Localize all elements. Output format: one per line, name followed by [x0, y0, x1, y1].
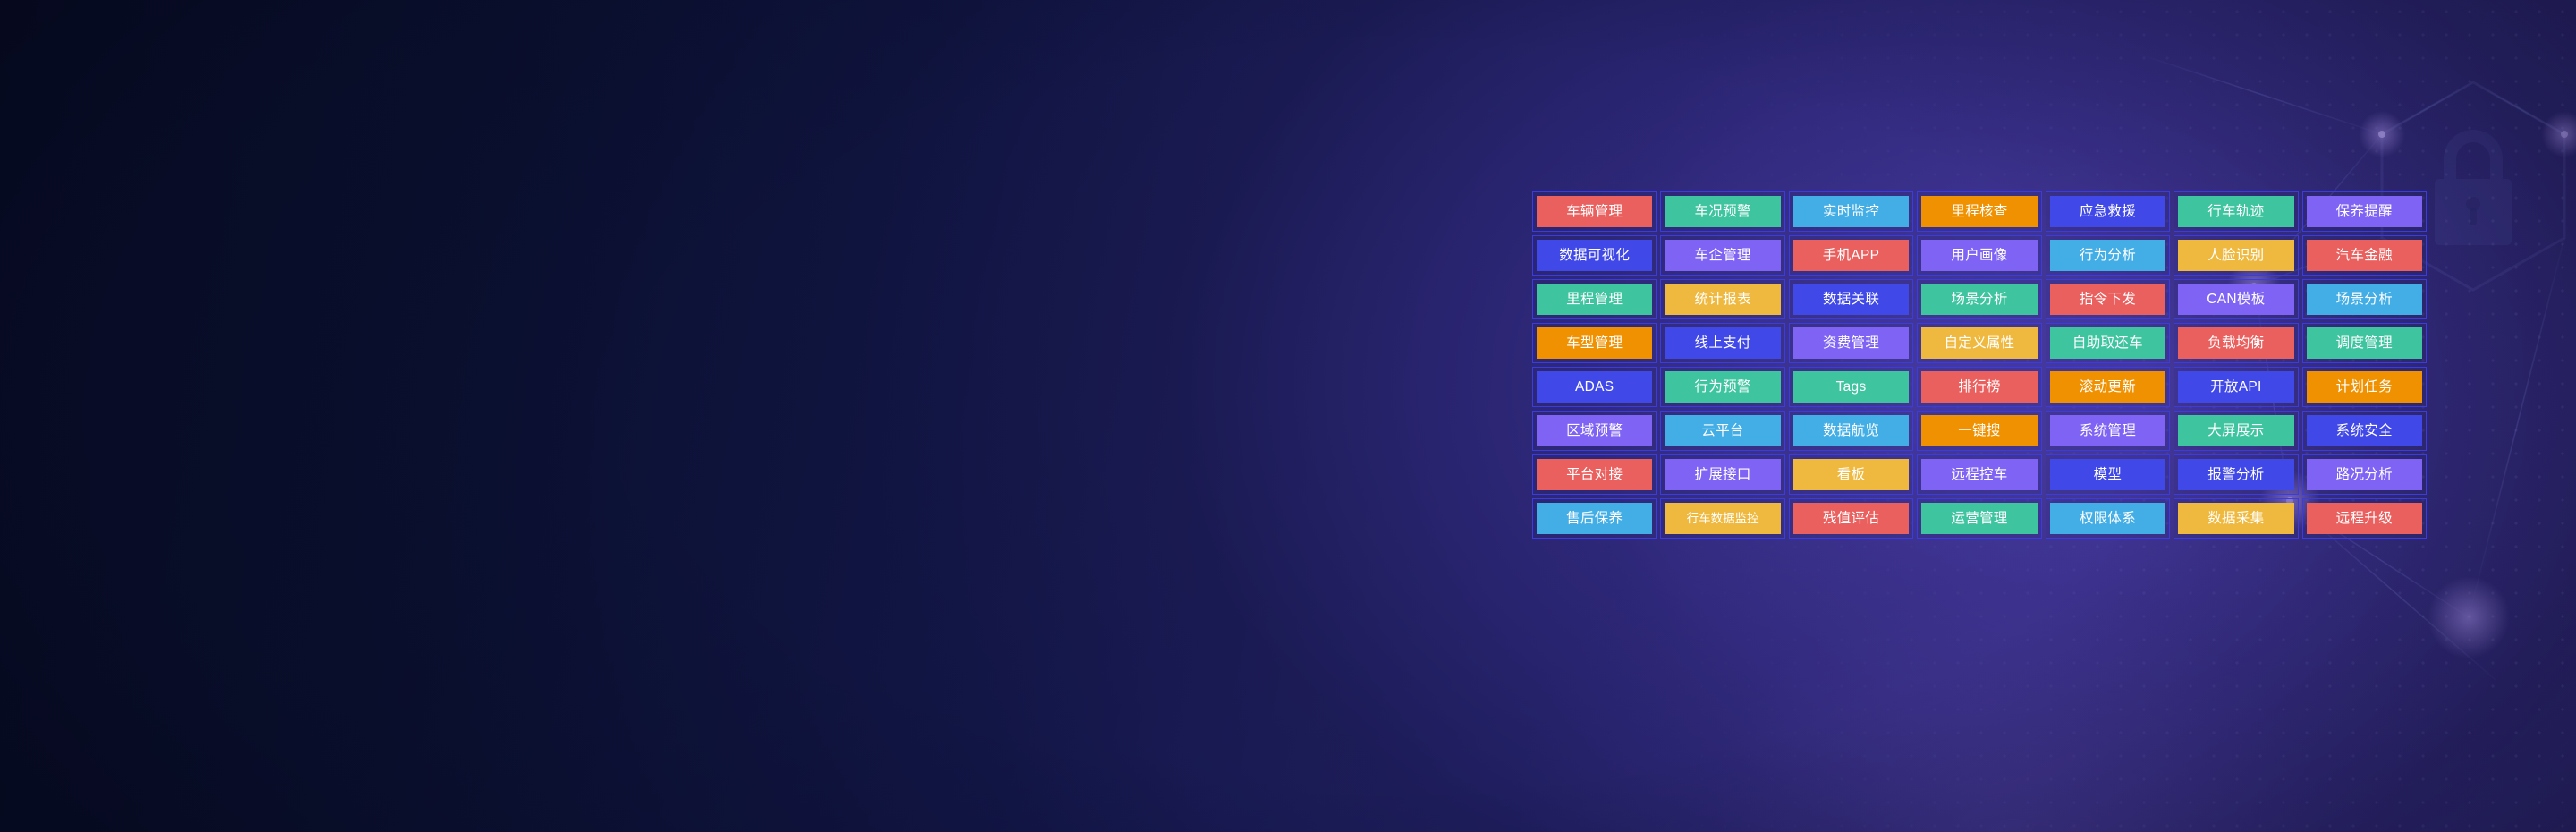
tag-chip[interactable]: 权限体系 [2050, 503, 2165, 534]
tag-cell[interactable]: 排行榜 [1917, 367, 2041, 407]
tag-chip[interactable]: 数据航览 [1793, 415, 1909, 446]
tag-chip[interactable]: 应急救援 [2050, 196, 2165, 227]
tag-cell[interactable]: 线上支付 [1660, 323, 1784, 363]
tag-cell[interactable]: 报警分析 [2173, 454, 2298, 495]
tag-chip[interactable]: 模型 [2050, 459, 2165, 490]
tag-cell[interactable]: 运营管理 [1917, 498, 2041, 539]
tag-chip[interactable]: 云平台 [1665, 415, 1780, 446]
tag-chip[interactable]: 保养提醒 [2307, 196, 2422, 227]
tag-cell[interactable]: 行车数据监控 [1660, 498, 1784, 539]
tag-chip[interactable]: 运营管理 [1921, 503, 2037, 534]
tag-chip[interactable]: 售后保养 [1537, 503, 1652, 534]
tag-cell[interactable]: 场景分析 [1917, 279, 2041, 319]
tag-cell[interactable]: 区域预警 [1532, 411, 1657, 451]
tag-chip[interactable]: 场景分析 [1921, 284, 2037, 315]
tag-cell[interactable]: 资费管理 [1789, 323, 1913, 363]
tag-cell[interactable]: 云平台 [1660, 411, 1784, 451]
tag-chip[interactable]: 报警分析 [2178, 459, 2293, 490]
tag-chip[interactable]: 滚动更新 [2050, 371, 2165, 403]
tag-chip[interactable]: 自助取还车 [2050, 327, 2165, 359]
tag-chip[interactable]: 调度管理 [2307, 327, 2422, 359]
tag-chip[interactable]: 残值评估 [1793, 503, 1909, 534]
tag-chip[interactable]: 行车数据监控 [1665, 503, 1780, 534]
feature-tag-grid: 车辆管理车况预警实时监控里程核查应急救援行车轨迹保养提醒数据可视化车企管理手机A… [1532, 191, 2427, 539]
tag-chip[interactable]: 扩展接口 [1665, 459, 1780, 490]
tag-chip[interactable]: 计划任务 [2307, 371, 2422, 403]
tag-cell[interactable]: 数据采集 [2173, 498, 2298, 539]
tag-cell[interactable]: 平台对接 [1532, 454, 1657, 495]
tag-chip[interactable]: 人脸识别 [2178, 240, 2293, 271]
tag-chip[interactable]: 一键搜 [1921, 415, 2037, 446]
tag-chip[interactable]: 汽车金融 [2307, 240, 2422, 271]
tag-chip[interactable]: 平台对接 [1537, 459, 1652, 490]
tag-chip[interactable]: 排行榜 [1921, 371, 2037, 403]
tag-chip[interactable]: 自定义属性 [1921, 327, 2037, 359]
tag-chip[interactable]: 里程管理 [1537, 284, 1652, 315]
tag-cell[interactable]: 指令下发 [2046, 279, 2170, 319]
tag-cell[interactable]: ADAS [1532, 367, 1657, 407]
tag-chip[interactable]: ADAS [1537, 371, 1652, 403]
tag-cell[interactable]: 权限体系 [2046, 498, 2170, 539]
tag-chip[interactable]: 数据可视化 [1537, 240, 1652, 271]
tag-cell[interactable]: 汽车金融 [2302, 235, 2427, 276]
tag-chip[interactable]: 车辆管理 [1537, 196, 1652, 227]
tag-cell[interactable]: 滚动更新 [2046, 367, 2170, 407]
tag-chip[interactable]: 行为分析 [2050, 240, 2165, 271]
tag-chip[interactable]: 行车轨迹 [2178, 196, 2293, 227]
tag-cell[interactable]: 应急救援 [2046, 191, 2170, 232]
tag-cell[interactable]: 自助取还车 [2046, 323, 2170, 363]
tag-cell[interactable]: 看板 [1789, 454, 1913, 495]
tag-cell[interactable]: 数据航览 [1789, 411, 1913, 451]
tag-chip[interactable]: 远程升级 [2307, 503, 2422, 534]
tag-cell[interactable]: 车型管理 [1532, 323, 1657, 363]
tag-chip[interactable]: 资费管理 [1793, 327, 1909, 359]
tag-chip[interactable]: CAN模板 [2178, 284, 2293, 315]
tag-chip[interactable]: 行为预警 [1665, 371, 1780, 403]
tag-cell[interactable]: 负载均衡 [2173, 323, 2298, 363]
tag-cell[interactable]: 调度管理 [2302, 323, 2427, 363]
tag-chip[interactable]: 数据关联 [1793, 284, 1909, 315]
tag-chip[interactable]: 区域预警 [1537, 415, 1652, 446]
tag-chip[interactable]: 车况预警 [1665, 196, 1780, 227]
tag-chip[interactable]: 数据采集 [2178, 503, 2293, 534]
tag-cell[interactable]: 路况分析 [2302, 454, 2427, 495]
tag-chip[interactable]: 远程控车 [1921, 459, 2037, 490]
tag-cell[interactable]: 人脸识别 [2173, 235, 2298, 276]
tag-chip[interactable]: 负载均衡 [2178, 327, 2293, 359]
tag-chip[interactable]: 里程核查 [1921, 196, 2037, 227]
tag-cell[interactable]: 远程控车 [1917, 454, 2041, 495]
tag-cell[interactable]: 系统管理 [2046, 411, 2170, 451]
tag-cell[interactable]: 系统安全 [2302, 411, 2427, 451]
tag-cell[interactable]: 车企管理 [1660, 235, 1784, 276]
tag-cell[interactable]: 大屏展示 [2173, 411, 2298, 451]
tag-cell[interactable]: 残值评估 [1789, 498, 1913, 539]
tag-cell[interactable]: 实时监控 [1789, 191, 1913, 232]
tag-cell[interactable]: 模型 [2046, 454, 2170, 495]
tag-cell[interactable]: 扩展接口 [1660, 454, 1784, 495]
tag-chip[interactable]: 车企管理 [1665, 240, 1780, 271]
tag-cell[interactable]: Tags [1789, 367, 1913, 407]
tag-cell[interactable]: 行车轨迹 [2173, 191, 2298, 232]
tag-cell[interactable]: 开放API [2173, 367, 2298, 407]
tag-chip[interactable]: 看板 [1793, 459, 1909, 490]
tag-cell[interactable]: 保养提醒 [2302, 191, 2427, 232]
tag-chip[interactable]: 路况分析 [2307, 459, 2422, 490]
tag-chip[interactable]: 统计报表 [1665, 284, 1780, 315]
tag-chip[interactable]: 系统管理 [2050, 415, 2165, 446]
tag-chip[interactable]: 系统安全 [2307, 415, 2422, 446]
tag-cell[interactable]: 计划任务 [2302, 367, 2427, 407]
tag-chip[interactable]: 线上支付 [1665, 327, 1780, 359]
tag-cell[interactable]: 行为预警 [1660, 367, 1784, 407]
tag-cell[interactable]: 售后保养 [1532, 498, 1657, 539]
tag-chip[interactable]: 开放API [2178, 371, 2293, 403]
tag-cell[interactable]: CAN模板 [2173, 279, 2298, 319]
tag-cell[interactable]: 数据关联 [1789, 279, 1913, 319]
tag-chip[interactable]: 车型管理 [1537, 327, 1652, 359]
tag-chip[interactable]: 指令下发 [2050, 284, 2165, 315]
tag-chip[interactable]: 用户画像 [1921, 240, 2037, 271]
tag-cell[interactable]: 里程管理 [1532, 279, 1657, 319]
tag-cell[interactable]: 自定义属性 [1917, 323, 2041, 363]
tag-cell[interactable]: 手机APP [1789, 235, 1913, 276]
tag-chip[interactable]: 手机APP [1793, 240, 1909, 271]
tag-cell[interactable]: 里程核查 [1917, 191, 2041, 232]
tag-chip[interactable]: 实时监控 [1793, 196, 1909, 227]
tag-cell[interactable]: 车况预警 [1660, 191, 1784, 232]
tag-cell[interactable]: 行为分析 [2046, 235, 2170, 276]
tag-cell[interactable]: 数据可视化 [1532, 235, 1657, 276]
tag-chip[interactable]: 场景分析 [2307, 284, 2422, 315]
tag-chip[interactable]: 大屏展示 [2178, 415, 2293, 446]
tag-cell[interactable]: 场景分析 [2302, 279, 2427, 319]
tag-cell[interactable]: 远程升级 [2302, 498, 2427, 539]
tag-cell[interactable]: 用户画像 [1917, 235, 2041, 276]
tag-cell[interactable]: 一键搜 [1917, 411, 2041, 451]
tag-cell[interactable]: 车辆管理 [1532, 191, 1657, 232]
tag-cell[interactable]: 统计报表 [1660, 279, 1784, 319]
tag-chip[interactable]: Tags [1793, 371, 1909, 403]
